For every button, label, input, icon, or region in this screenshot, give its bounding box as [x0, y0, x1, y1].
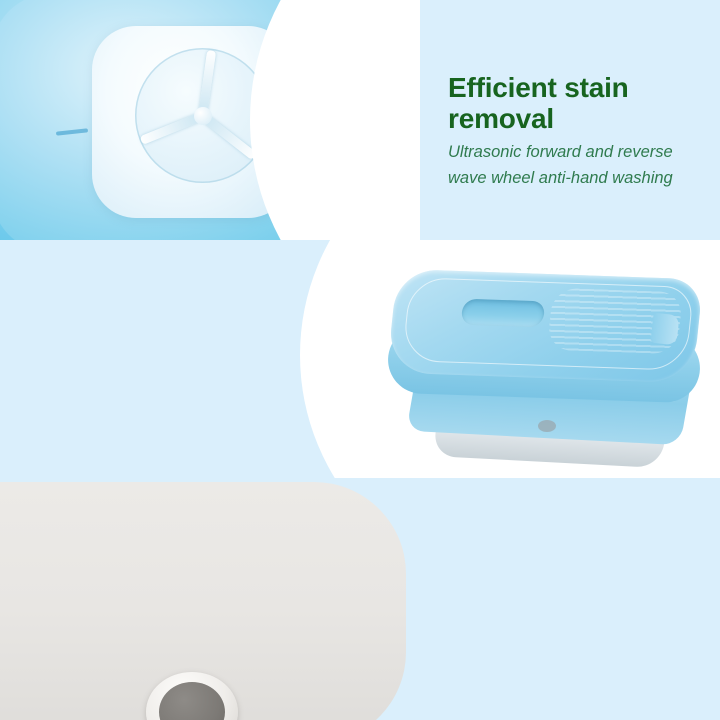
- product-photo-folded-washer: [300, 240, 720, 478]
- product-photo-open-tub: [0, 0, 420, 240]
- folded-washer-device: [300, 240, 720, 478]
- feature-panel-foldable: Foldable Travel, easy to put into the su…: [0, 240, 720, 478]
- pulsator-hub: [194, 107, 212, 125]
- washer-side-latch-tab: [651, 313, 680, 346]
- washer-lid-handle-slot: [460, 299, 546, 328]
- feature-heading: Efficient stain removal: [448, 72, 700, 135]
- product-feature-infographic: Efficient stain removal Ultrasonic forwa…: [0, 0, 720, 720]
- photo-rounded-edge-mask: [250, 0, 420, 240]
- feature-panel-timing: Timing Smart touch screen design, choose…: [0, 478, 720, 720]
- feature-body-line: wave wheel anti-hand washing: [448, 165, 700, 192]
- feature-copy-efficient-stain-removal: Efficient stain removal Ultrasonic forwa…: [448, 72, 700, 192]
- feature-body-line: Ultrasonic forward and reverse: [448, 139, 700, 166]
- washer-base-knob: [538, 420, 556, 432]
- feature-panel-efficient-stain-removal: Efficient stain removal Ultrasonic forwa…: [0, 0, 720, 240]
